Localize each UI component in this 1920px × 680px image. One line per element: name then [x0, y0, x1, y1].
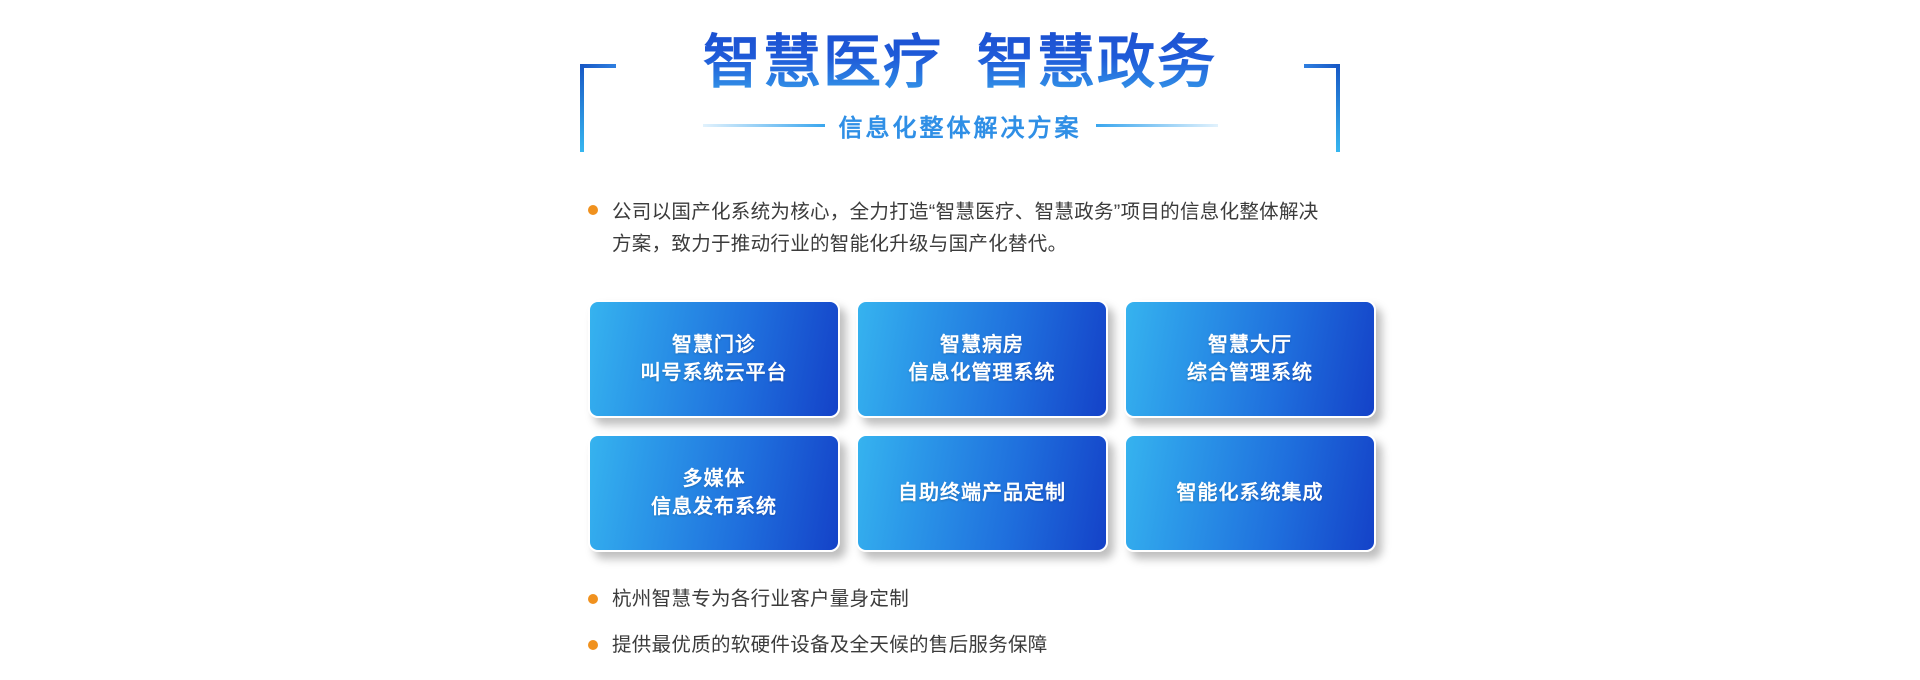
solution-card-label: 自助终端产品定制 — [898, 479, 1066, 507]
bullet-dot-icon — [588, 205, 598, 215]
bullet-text: 杭州智慧专为各行业客户量身定制 — [612, 586, 909, 612]
header: 智慧医疗智慧政务 信息化整体解决方案 — [580, 26, 1340, 146]
page-subtitle: 信息化整体解决方案 — [839, 108, 1082, 143]
list-item: 提供最优质的软硬件设备及全天候的售后服务保障 — [588, 632, 1348, 658]
solution-card-label: 智慧门诊 叫号系统云平台 — [641, 331, 788, 387]
solution-card[interactable]: 多媒体 信息发布系统 — [588, 434, 840, 552]
intro-paragraph-text: 公司以国产化系统为核心，全力打造“智慧医疗、智慧政务”项目的信息化整体解决方案，… — [612, 196, 1328, 260]
solution-card[interactable]: 智慧门诊 叫号系统云平台 — [588, 300, 840, 418]
page-title-part-one: 智慧医疗 — [703, 26, 943, 100]
solution-card-label: 智慧大厅 综合管理系统 — [1187, 331, 1313, 387]
subtitle-rule-right — [1096, 124, 1218, 127]
bullet-text: 提供最优质的软硬件设备及全天候的售后服务保障 — [612, 632, 1048, 658]
page-title: 智慧医疗智慧政务 — [580, 26, 1340, 100]
subtitle-rule-left — [703, 124, 825, 127]
intro-paragraph: 公司以国产化系统为核心，全力打造“智慧医疗、智慧政务”项目的信息化整体解决方案，… — [588, 196, 1328, 260]
solution-card[interactable]: 智慧病房 信息化管理系统 — [856, 300, 1108, 418]
poster-canvas: 智慧医疗智慧政务 信息化整体解决方案 公司以国产化系统为核心，全力打造“智慧医疗… — [0, 0, 1920, 680]
subtitle-row: 信息化整体解决方案 — [580, 108, 1340, 143]
page-title-part-two: 智慧政务 — [977, 26, 1217, 100]
list-item: 杭州智慧专为各行业客户量身定制 — [588, 586, 1348, 612]
bullet-dot-icon — [588, 640, 598, 650]
solution-card-label: 智能化系统集成 — [1177, 479, 1324, 507]
solution-card-label: 多媒体 信息发布系统 — [651, 465, 777, 521]
solution-card-label: 智慧病房 信息化管理系统 — [909, 331, 1056, 387]
solution-card[interactable]: 自助终端产品定制 — [856, 434, 1108, 552]
bottom-bullet-list: 杭州智慧专为各行业客户量身定制 提供最优质的软硬件设备及全天候的售后服务保障 — [588, 586, 1348, 678]
bullet-dot-icon — [588, 594, 598, 604]
solution-card-grid: 智慧门诊 叫号系统云平台 智慧病房 信息化管理系统 智慧大厅 综合管理系统 多媒… — [588, 300, 1376, 552]
solution-card[interactable]: 智能化系统集成 — [1124, 434, 1376, 552]
solution-card[interactable]: 智慧大厅 综合管理系统 — [1124, 300, 1376, 418]
